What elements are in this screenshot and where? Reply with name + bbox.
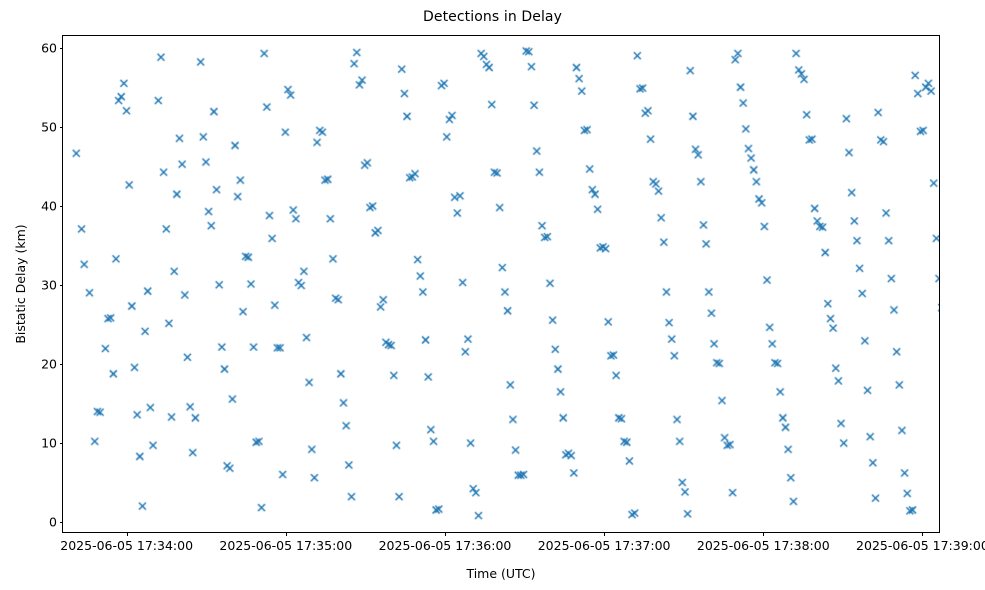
y-axis-tick-label: 20	[41, 357, 57, 372]
y-axis-tick-label: 30	[41, 278, 57, 293]
matplotlib-figure: Detections in Delay 01020304050602025-06…	[0, 0, 985, 590]
y-axis-tick-label: 40	[41, 198, 57, 213]
y-axis-label: Bistatic Delay (km)	[13, 35, 29, 533]
y-axis-tick	[60, 127, 64, 128]
x-axis-tick-label: 2025-06-05 17:39:00	[856, 538, 985, 553]
y-axis-tick-label: 10	[41, 436, 57, 451]
x-axis-tick-label: 2025-06-05 17:38:00	[697, 538, 830, 553]
x-axis-tick	[445, 532, 446, 536]
y-axis-tick	[60, 522, 64, 523]
x-axis-tick	[922, 532, 923, 536]
y-axis-tick	[60, 206, 64, 207]
x-axis-tick-label: 2025-06-05 17:35:00	[219, 538, 352, 553]
y-axis-tick-label: 0	[49, 515, 57, 530]
y-axis-tick-label: 50	[41, 119, 57, 134]
x-axis-tick-label: 2025-06-05 17:34:00	[60, 538, 193, 553]
y-axis-tick-label: 60	[41, 40, 57, 55]
x-axis-tick	[127, 532, 128, 536]
x-axis-tick-label: 2025-06-05 17:36:00	[379, 538, 512, 553]
plot-axes: 01020304050602025-06-05 17:34:002025-06-…	[62, 35, 940, 533]
x-axis-label: Time (UTC)	[62, 566, 940, 581]
page-title: Detections in Delay	[0, 9, 985, 25]
y-axis-tick	[60, 443, 64, 444]
x-axis-tick	[604, 532, 605, 536]
y-axis-tick	[60, 364, 64, 365]
scatter-plot-canvas	[63, 36, 939, 532]
x-axis-tick	[286, 532, 287, 536]
x-axis-tick-label: 2025-06-05 17:37:00	[538, 538, 671, 553]
x-axis-tick	[763, 532, 764, 536]
y-axis-tick	[60, 48, 64, 49]
y-axis-tick	[60, 285, 64, 286]
